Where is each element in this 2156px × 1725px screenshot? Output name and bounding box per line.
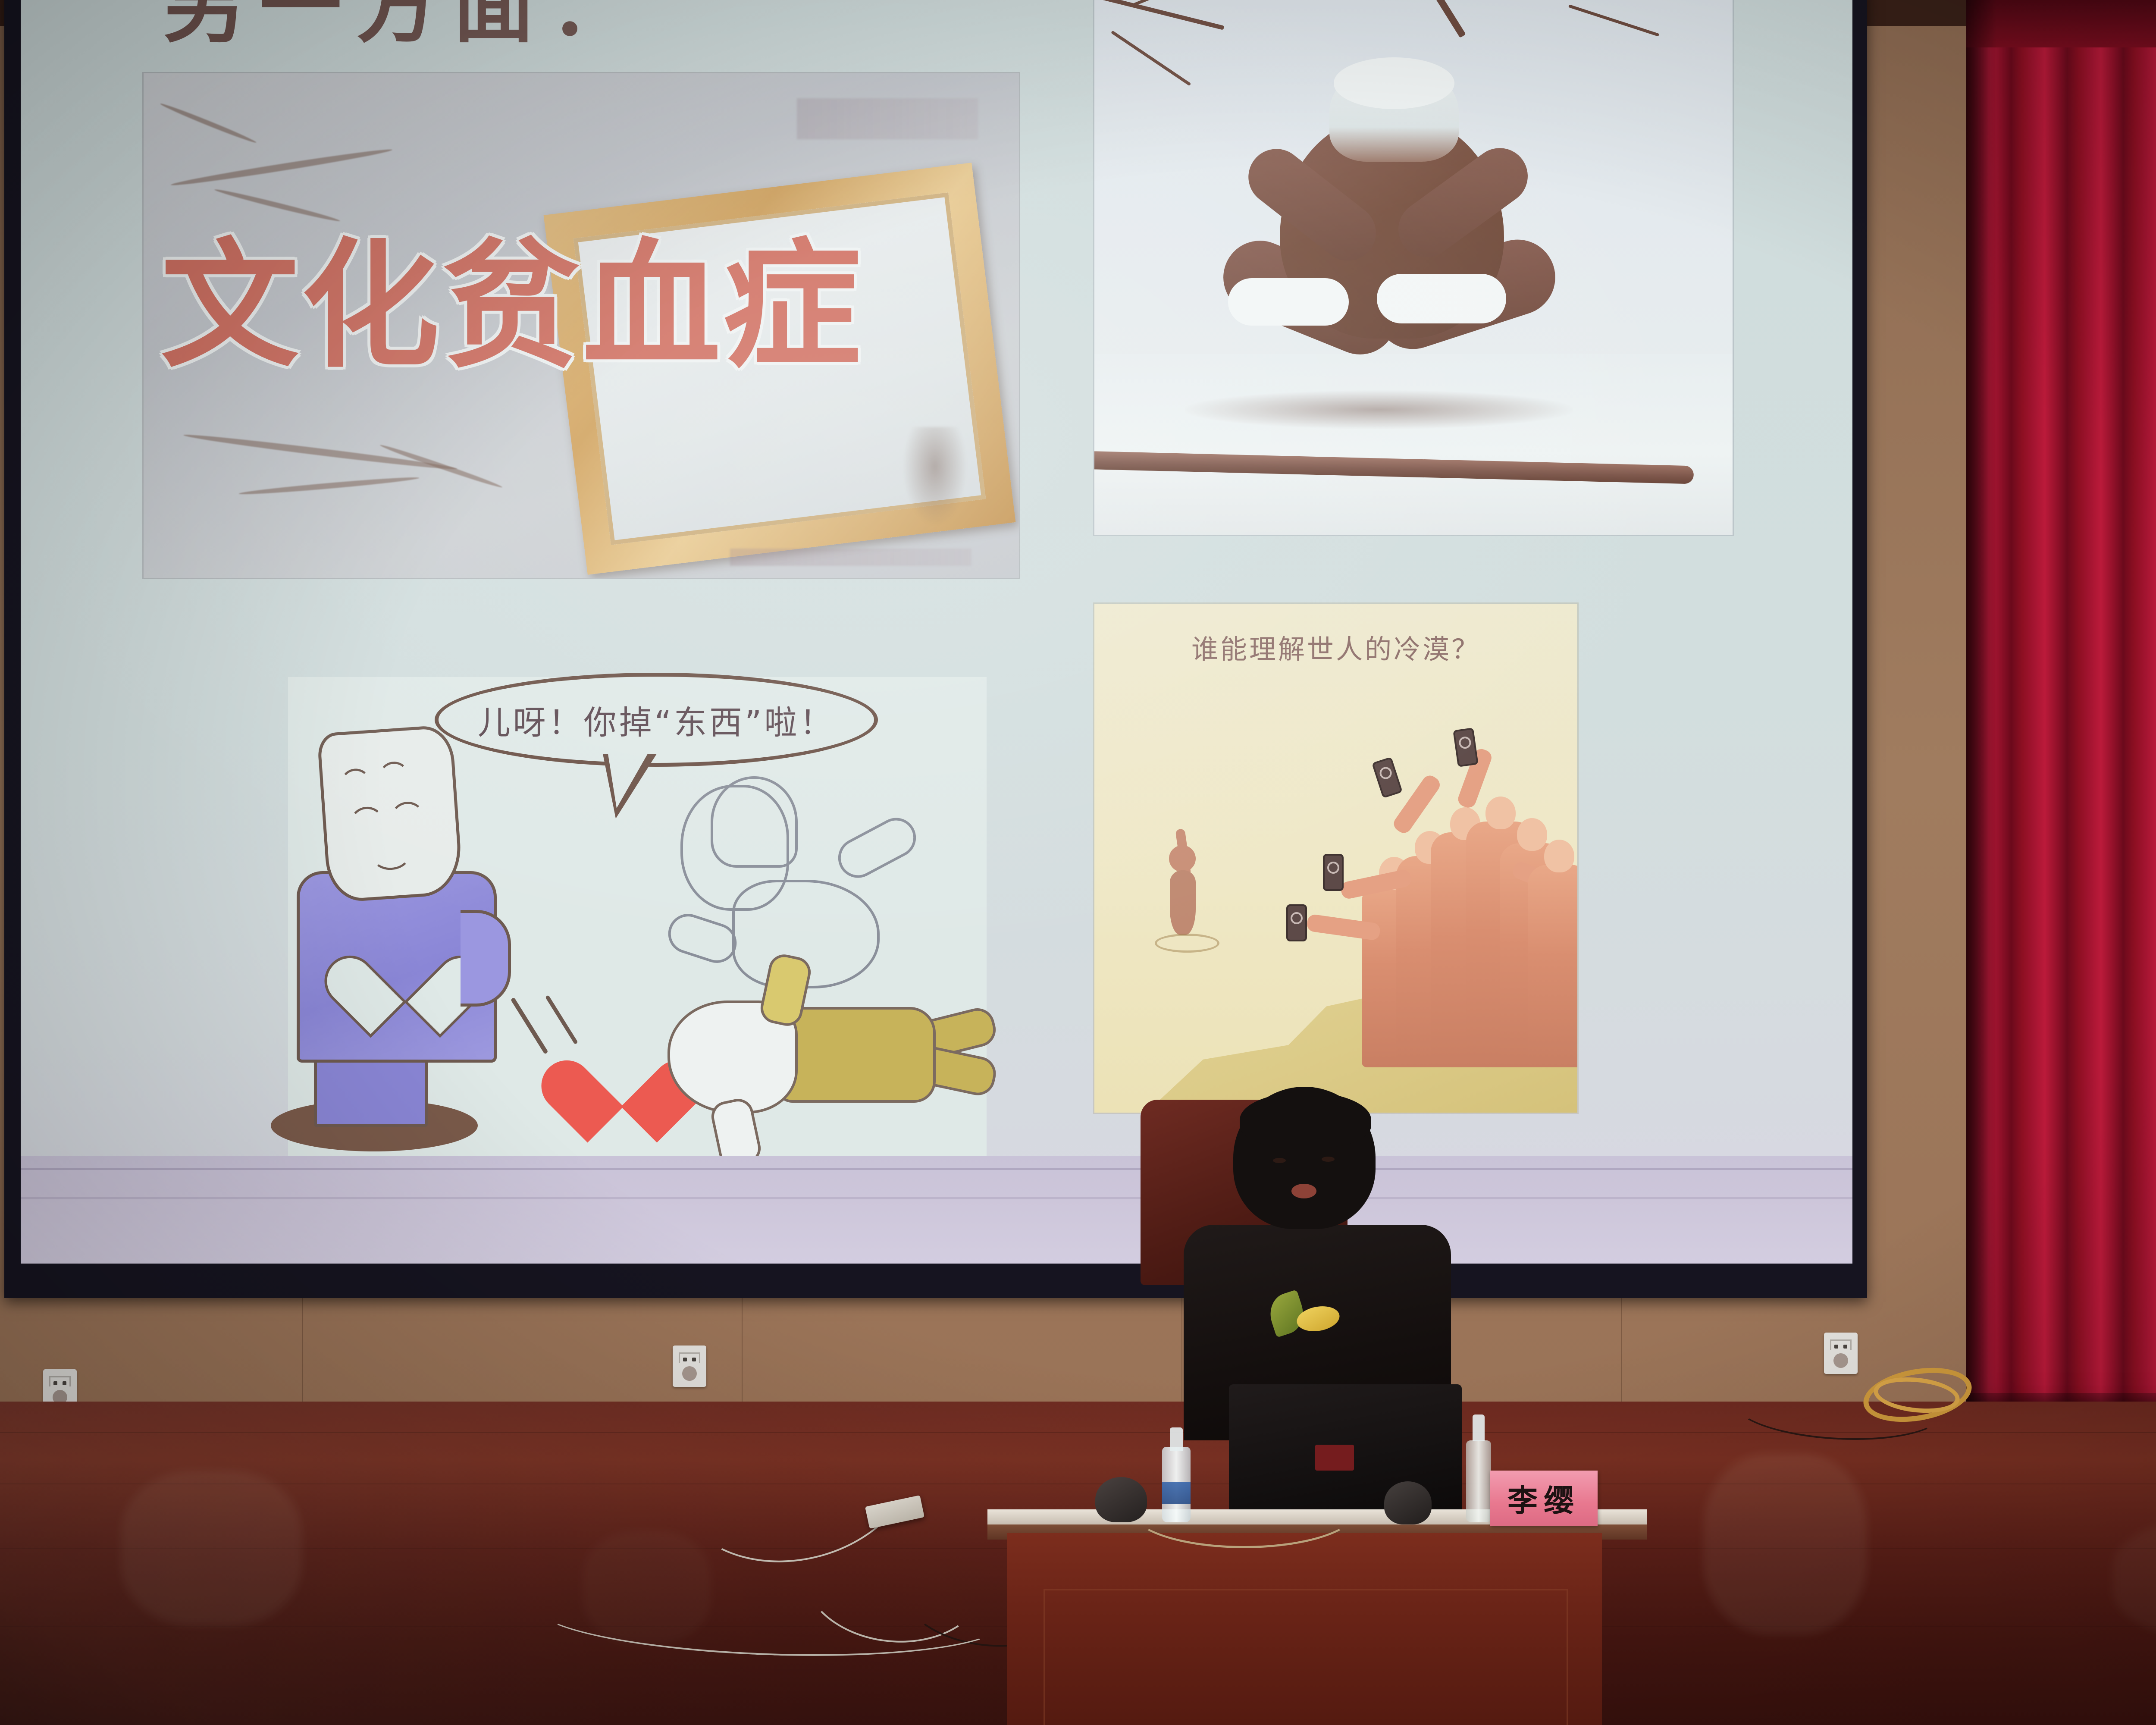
speaker-bangs bbox=[1240, 1092, 1371, 1148]
wall-outlet[interactable] bbox=[1824, 1333, 1858, 1374]
image-watermark-top bbox=[797, 98, 978, 139]
fallen-person bbox=[667, 975, 969, 1156]
speaker-eye bbox=[1322, 1157, 1335, 1162]
cultural-anemia-headline: 文化贫血症 bbox=[161, 237, 864, 375]
speaker-eye bbox=[1273, 1158, 1286, 1163]
speaker-mouth bbox=[1291, 1184, 1316, 1198]
image-watermark-bottom bbox=[730, 549, 971, 566]
auditorium-photo: 另一方面： 文化贫血症 bbox=[0, 0, 2156, 1725]
water-bottle[interactable] bbox=[1466, 1414, 1491, 1522]
bystander bbox=[1528, 865, 1577, 1067]
elderly-figure bbox=[288, 729, 517, 1104]
indifference-caption: 谁能理解世人的冷漠？ bbox=[1094, 627, 1577, 666]
microphone[interactable] bbox=[1384, 1481, 1432, 1524]
canvas-smudge bbox=[903, 427, 967, 526]
podium-panel bbox=[1044, 1589, 1568, 1725]
heart-cartoon-image: 儿呀！你掉“东西”啦！ bbox=[288, 677, 987, 1164]
curtain-shadow bbox=[1966, 0, 1996, 1419]
desk-cable bbox=[1130, 1471, 1358, 1548]
corsage-flower bbox=[1270, 1289, 1343, 1337]
snow-statue-image bbox=[1094, 0, 1733, 535]
drowning-person bbox=[1157, 845, 1209, 957]
fallen-red-heart bbox=[573, 1026, 672, 1119]
slide-title: 另一方面： bbox=[163, 0, 646, 58]
projection-screen: 另一方面： 文化贫血症 bbox=[21, 0, 1852, 1264]
name-plate: 李缨 bbox=[1490, 1471, 1598, 1526]
name-plate-text: 李缨 bbox=[1507, 1477, 1580, 1520]
podium-area: 李缨 bbox=[987, 1082, 1647, 1613]
indifference-cartoon-image: 谁能理解世人的冷漠？ bbox=[1094, 604, 1577, 1113]
wall-outlet[interactable] bbox=[673, 1345, 706, 1387]
crouching-statue bbox=[1204, 54, 1562, 455]
laptop-logo bbox=[1315, 1445, 1354, 1471]
heart-shaped-hole bbox=[356, 922, 455, 1012]
cultural-anemia-image: 文化贫血症 bbox=[144, 73, 1019, 578]
speech-bubble-tail bbox=[603, 754, 657, 819]
wall-seam bbox=[302, 1289, 303, 1410]
